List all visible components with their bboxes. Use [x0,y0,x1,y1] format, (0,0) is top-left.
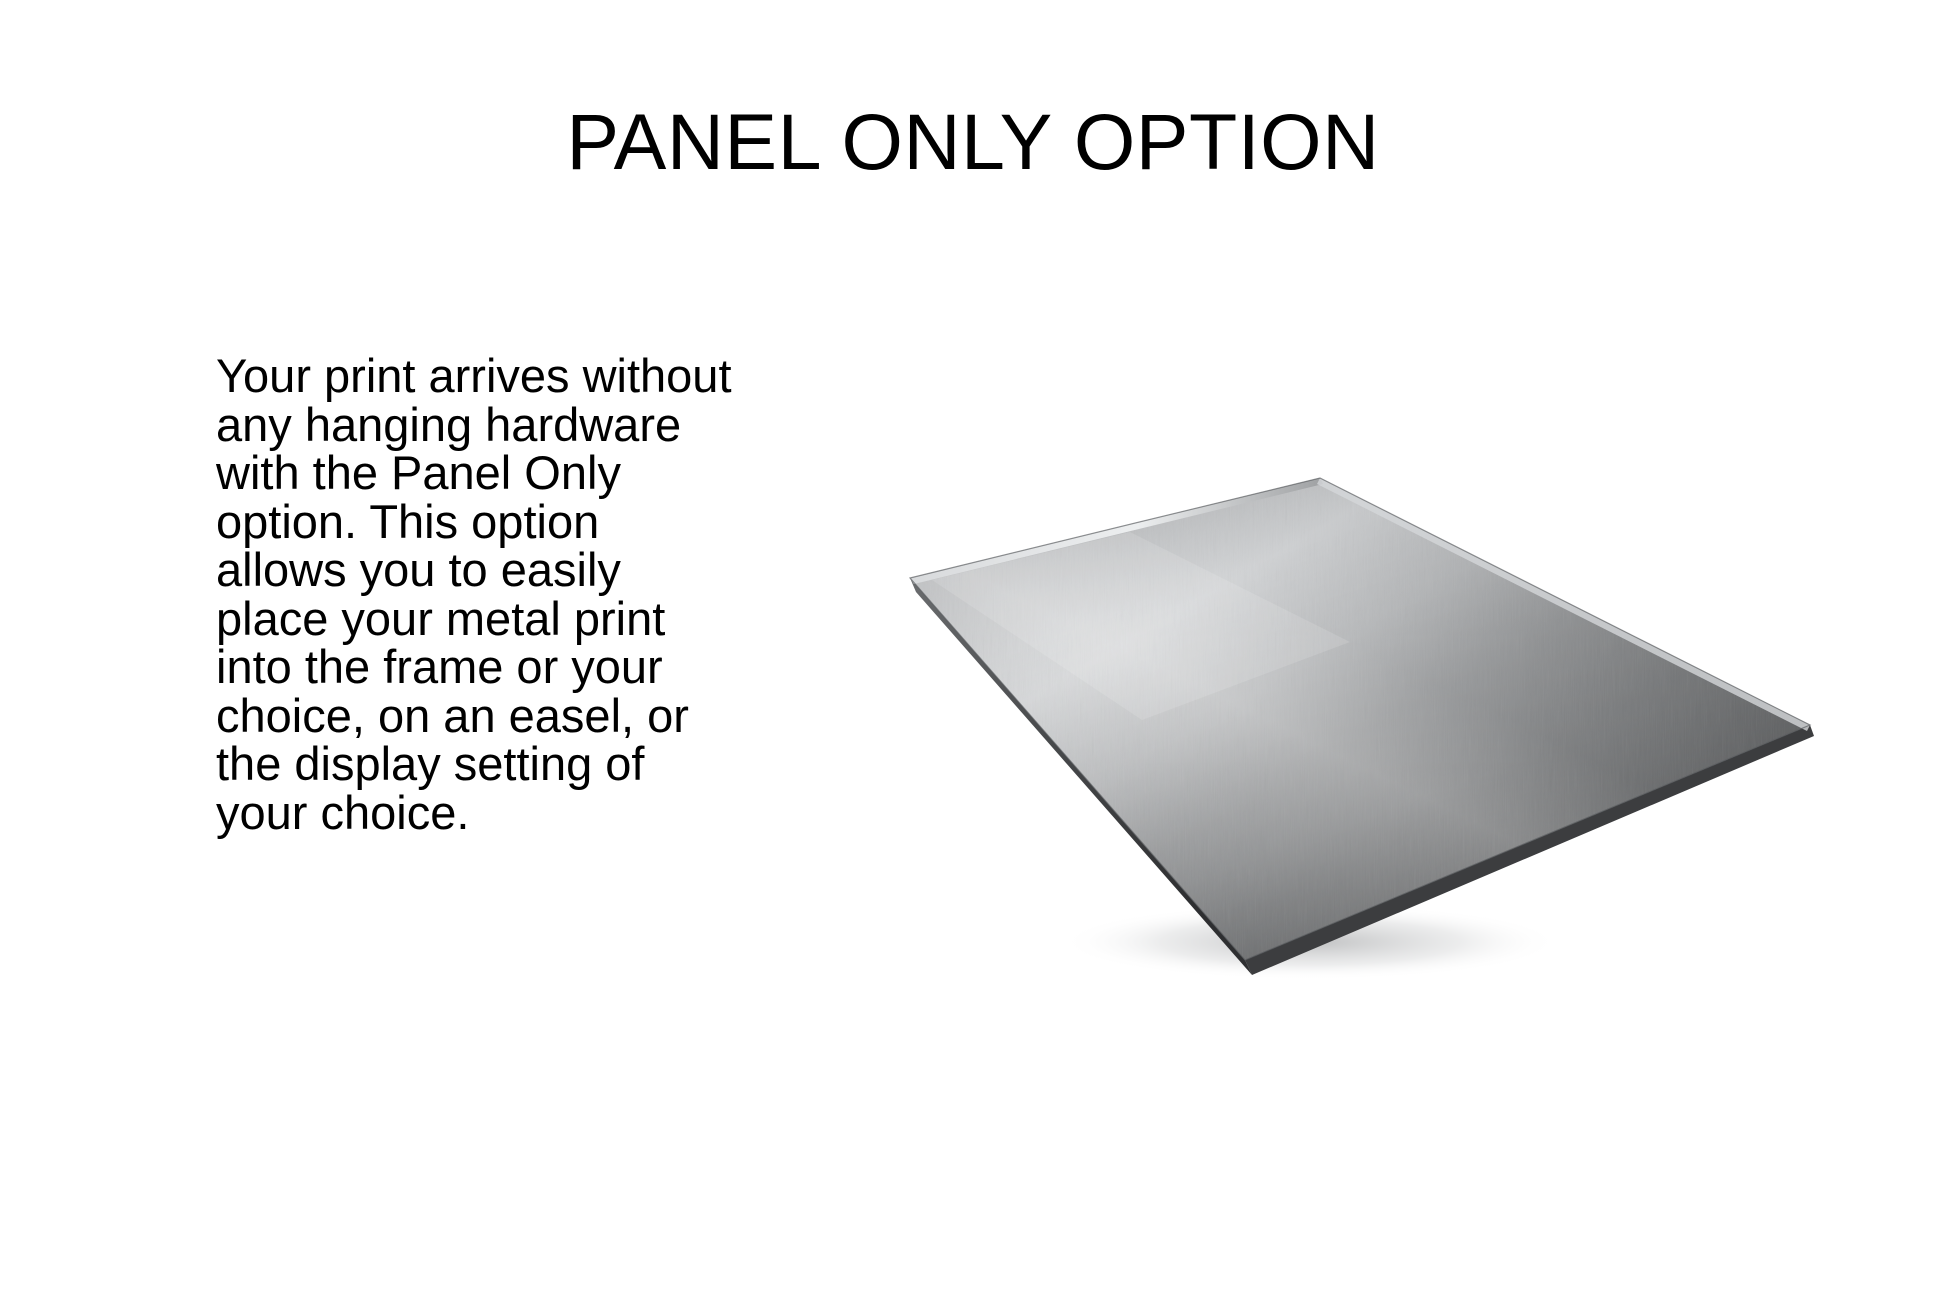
slide-canvas: PANEL ONLY OPTION Your print arrives wit… [0,0,1946,1297]
body-line: any hanging hardware [216,401,796,450]
metal-panel-illustration [880,430,1840,990]
page-title: PANEL ONLY OPTION [0,96,1946,188]
body-line: into the frame or your [216,643,796,692]
body-paragraph: Your print arrives without any hanging h… [216,352,796,837]
body-line: place your metal print [216,595,796,644]
body-line: with the Panel Only [216,449,796,498]
body-line: the display setting of [216,740,796,789]
body-line: option. This option [216,498,796,547]
metal-panel-image [880,430,1840,990]
body-line: choice, on an easel, or [216,692,796,741]
body-line: your choice. [216,789,796,838]
body-line: allows you to easily [216,546,796,595]
body-line: Your print arrives without [216,352,796,401]
